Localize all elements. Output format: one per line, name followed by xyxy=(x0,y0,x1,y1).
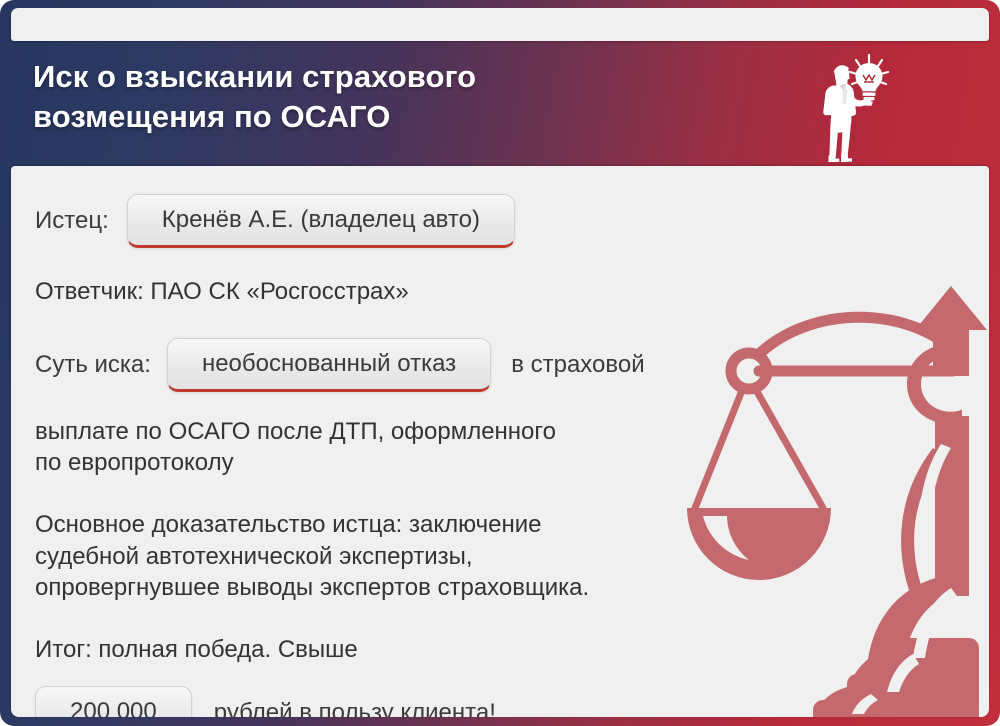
infographic-card: Иск о взыскании страхового возмещения по… xyxy=(0,0,1000,726)
top-strip xyxy=(11,8,989,41)
claim-after-text: в страховой xyxy=(511,351,644,379)
amount-after-text: рублей в пользу клиента! xyxy=(214,699,496,717)
businessman-with-lightbulb-icon xyxy=(790,47,910,162)
content-body: Истец: Кренёв А.Е. (владелец авто) Ответ… xyxy=(11,166,989,717)
claim-continuation-text: выплате по ОСАГО после ДТП, оформленного… xyxy=(35,416,989,479)
claim-row: Суть иска: необоснованный отказ в страхо… xyxy=(35,338,989,392)
defendant-text: Ответчик: ПАО СК «Росгосстрах» xyxy=(35,276,989,308)
result-amount-row: 200 000 рублей в пользу клиента! xyxy=(35,686,989,717)
evidence-text: Основное доказательство истца: заключени… xyxy=(35,509,989,604)
content-panel: Истец: Кренёв А.Е. (владелец авто) Ответ… xyxy=(11,166,989,717)
claim-value-pill[interactable]: необоснованный отказ xyxy=(167,338,491,392)
plaintiff-label: Истец: xyxy=(35,207,109,235)
plaintiff-value-pill[interactable]: Кренёв А.Е. (владелец авто) xyxy=(127,194,515,248)
page-title: Иск о взыскании страхового возмещения по… xyxy=(33,57,673,136)
amount-pill[interactable]: 200 000 xyxy=(35,686,192,717)
header-band: Иск о взыскании страхового возмещения по… xyxy=(0,41,1000,165)
result-label: Итог: полная победа. Свыше xyxy=(35,634,989,666)
claim-label: Суть иска: xyxy=(35,351,151,379)
plaintiff-row: Истец: Кренёв А.Е. (владелец авто) xyxy=(35,194,989,248)
